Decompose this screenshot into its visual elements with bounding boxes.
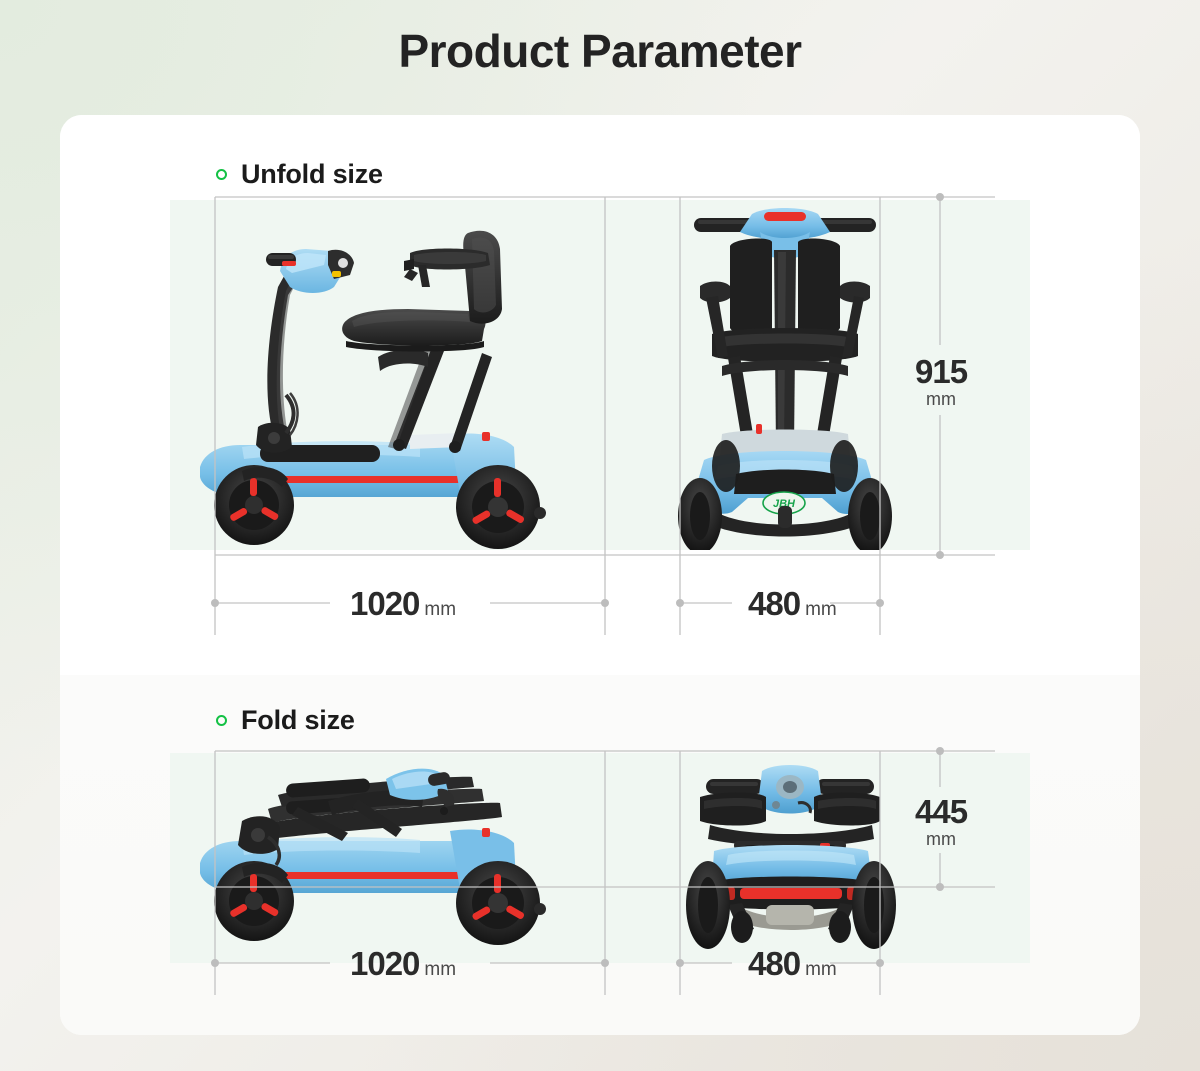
unfold-heading-label: Unfold size bbox=[241, 159, 383, 190]
circle-outline-icon bbox=[216, 715, 227, 726]
unfold-heading: Unfold size bbox=[216, 159, 383, 190]
fold-width-label: 480 mm bbox=[748, 945, 837, 983]
unfold-width-label: 480 mm bbox=[748, 585, 837, 623]
page-title: Product Parameter bbox=[0, 24, 1200, 78]
unfold-photo-stage: JBH bbox=[170, 200, 1030, 550]
scooter-side-view-folded bbox=[182, 753, 582, 963]
fold-height-label: 445 mm bbox=[915, 795, 967, 851]
scooter-front-view-unfolded: JBH bbox=[660, 200, 910, 550]
unfold-length-label: 1020 mm bbox=[350, 585, 456, 623]
scooter-side-view-unfolded bbox=[182, 200, 582, 550]
section-unfold-size: Unfold size bbox=[60, 115, 1140, 675]
scooter-front-view-folded bbox=[670, 755, 910, 963]
fold-heading-label: Fold size bbox=[241, 705, 355, 736]
section-fold-size: Fold size bbox=[60, 675, 1140, 1035]
fold-length-label: 1020 mm bbox=[350, 945, 456, 983]
spec-card: Unfold size bbox=[60, 115, 1140, 1035]
fold-photo-stage bbox=[170, 753, 1030, 963]
unfold-height-label: 915 mm bbox=[915, 355, 967, 411]
fold-heading: Fold size bbox=[216, 705, 355, 736]
circle-outline-icon bbox=[216, 169, 227, 180]
